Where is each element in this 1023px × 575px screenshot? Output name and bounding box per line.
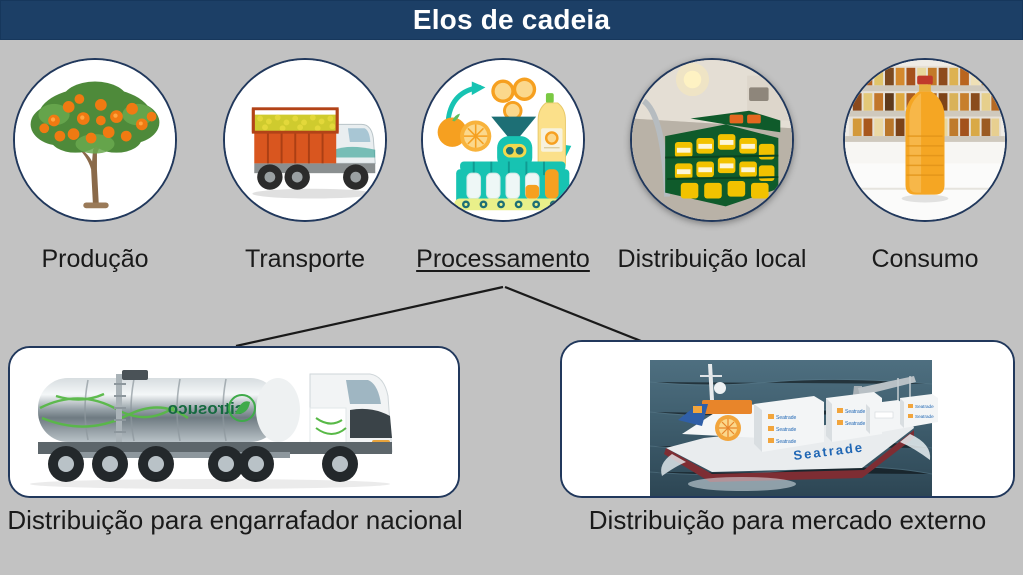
orange-tree-icon — [13, 58, 177, 222]
page-title: Elos de cadeia — [413, 6, 610, 34]
svg-text:Seatrade: Seatrade — [845, 409, 866, 415]
svg-text:Seatrade: Seatrade — [915, 414, 934, 419]
connector-to-externo — [505, 287, 641, 341]
chain-node-distribuicao-local[interactable]: Distribuição local — [627, 40, 797, 222]
chain-node-label: Distribuição local — [603, 245, 821, 273]
orange-truck-icon — [223, 58, 387, 222]
chain-node-consumo[interactable]: Consumo — [840, 40, 1010, 222]
svg-text:Seatrade: Seatrade — [845, 421, 866, 427]
branch-label-nacional: Distribuição para engarrafador nacional — [0, 505, 470, 536]
seatrade-cargo-ship-icon: Seatrade Seatrade Seatrade Seatrade Seat… — [562, 342, 1013, 496]
slide-canvas: Elos de cadeia — [0, 0, 1023, 575]
branch-box-nacional[interactable]: citrosuco — [8, 346, 460, 498]
refrigerated-crates-icon — [630, 58, 794, 222]
svg-text:Seatrade: Seatrade — [776, 415, 797, 421]
juice-bottle-shelf-icon — [843, 58, 1007, 222]
juice-factory-icon-svg — [423, 60, 583, 220]
citrosuco-tanker-truck-icon: citrosuco — [10, 348, 458, 496]
chain-node-transporte[interactable]: Transporte — [220, 40, 390, 222]
slide-title-bar: Elos de cadeia — [0, 0, 1023, 40]
juice-factory-icon — [421, 58, 585, 222]
chain-node-label: Produção — [0, 245, 204, 273]
chain-node-processamento[interactable]: Processamento — [418, 40, 588, 222]
juice-bottle-shelf-icon-svg — [845, 60, 1005, 220]
svg-text:citrosuco: citrosuco — [168, 399, 245, 418]
chain-node-label: Consumo — [816, 245, 1023, 273]
chain-node-row: Produção — [0, 40, 1023, 290]
chain-node-label: Transporte — [196, 245, 414, 273]
svg-text:Seatrade: Seatrade — [776, 439, 797, 445]
branch-label-externo: Distribuição para mercado externo — [555, 505, 1020, 536]
refrigerated-crates-icon-svg — [632, 60, 792, 220]
chain-node-producao[interactable]: Produção — [10, 40, 180, 222]
connector-to-nacional — [236, 287, 503, 346]
orange-truck-icon-svg — [225, 60, 385, 220]
svg-text:Seatrade: Seatrade — [776, 427, 797, 433]
svg-text:Seatrade: Seatrade — [915, 404, 934, 409]
branch-box-externo[interactable]: Seatrade Seatrade Seatrade Seatrade Seat… — [560, 340, 1015, 498]
chain-node-label: Processamento — [394, 245, 612, 273]
orange-tree-icon-svg — [15, 60, 175, 220]
